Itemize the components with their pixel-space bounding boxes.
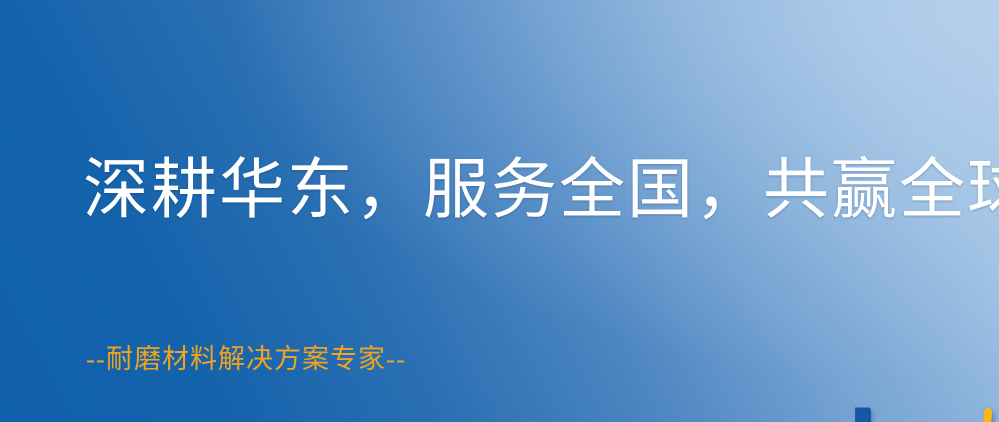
banner-subtitle: --耐磨材料解决方案专家--: [86, 343, 999, 375]
echo-wave-icon: [924, 404, 996, 422]
promo-banner: 深耕华东，服务全国，共赢全球 --耐磨材料解决方案专家-- echo Machi…: [0, 0, 999, 422]
echo-machinery-logo: echo Machinery®: [742, 402, 999, 422]
logo-wordmark-primary: ech: [748, 395, 905, 422]
banner-headline: 深耕华东，服务全国，共赢全球: [83, 152, 999, 230]
